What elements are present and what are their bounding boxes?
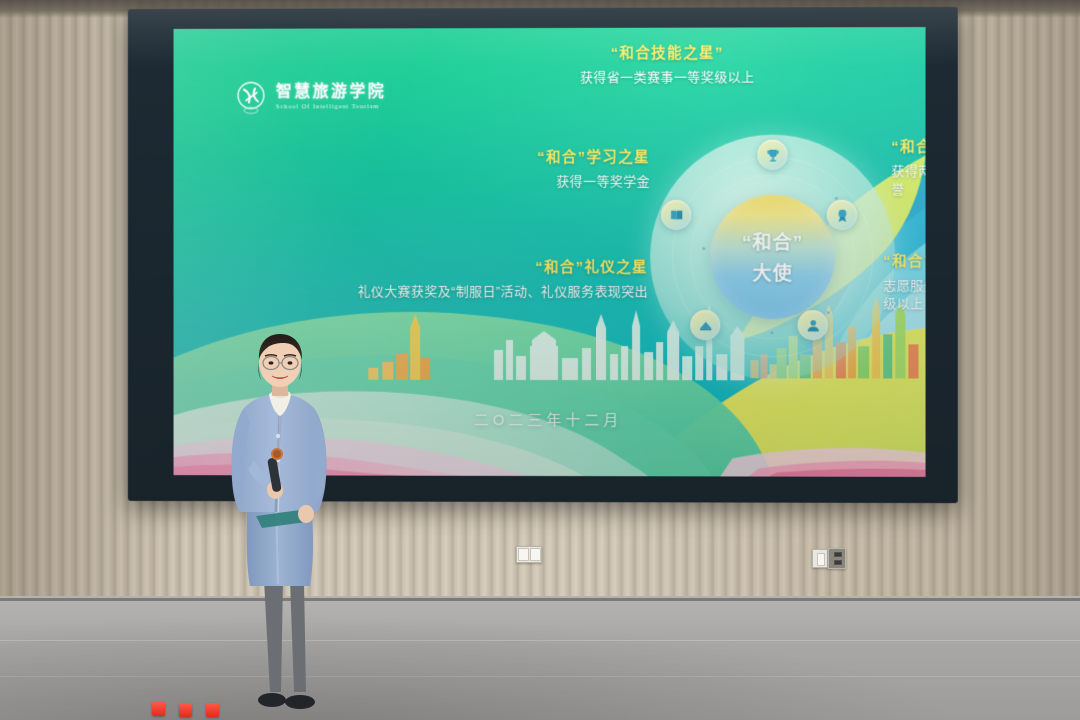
logo-name-cn: 智慧旅游学院 <box>276 84 386 101</box>
person-icon <box>798 310 828 340</box>
item-desc: 礼仪大赛获奖及“制服日”活动、礼仪服务表现突出 <box>323 283 649 302</box>
institution-logo: 智慧旅游学院 School Of Intelligent Tourism <box>235 80 386 114</box>
book-icon <box>661 200 691 230</box>
item-desc: 获得一等奖学金 <box>333 173 651 192</box>
ribbon-icon <box>690 310 720 340</box>
light-switch-left[interactable] <box>516 546 542 563</box>
item-study-star: “和合”学习之星 获得一等奖学金 <box>333 146 651 192</box>
item-desc: 获得两次优秀学生干部荣誉 <box>891 162 925 199</box>
trophy-icon <box>757 140 787 170</box>
floor-marker <box>179 703 192 717</box>
item-desc: 志愿服务时长达200小时级以上 <box>883 277 925 314</box>
badge-icon <box>827 200 857 230</box>
item-practice-star: “和合”实践之星 获得两次优秀学生干部荣誉 <box>891 135 925 199</box>
center-label-line1: “和合” <box>742 228 803 255</box>
seal-icon <box>235 81 267 115</box>
item-title: “和合”服务之星 <box>883 250 925 271</box>
item-title: “和合”礼仪之星 <box>323 256 649 277</box>
item-etiquette-star: “和合”礼仪之星 礼仪大赛获奖及“制服日”活动、礼仪服务表现突出 <box>323 256 649 302</box>
item-title: “和合技能之星” <box>502 41 833 63</box>
item-title: “和合”实践之星 <box>891 135 925 156</box>
logo-name-en: School Of Intelligent Tourism <box>276 103 386 110</box>
floor-marker <box>152 702 165 716</box>
item-service-star: “和合”服务之星 志愿服务时长达200小时级以上 <box>883 250 925 314</box>
item-skill-star: “和合技能之星” 获得省一类赛事一等奖级以上 <box>502 41 833 87</box>
center-badge: “和合” 大使 <box>710 195 835 319</box>
presenter-person <box>214 330 354 720</box>
light-switch-right[interactable] <box>812 549 828 568</box>
center-label-line2: 大使 <box>752 259 792 286</box>
item-desc: 获得省一类赛事一等奖级以上 <box>502 68 833 87</box>
outlet-panel-right[interactable] <box>828 548 846 569</box>
item-title: “和合”学习之星 <box>333 146 651 167</box>
